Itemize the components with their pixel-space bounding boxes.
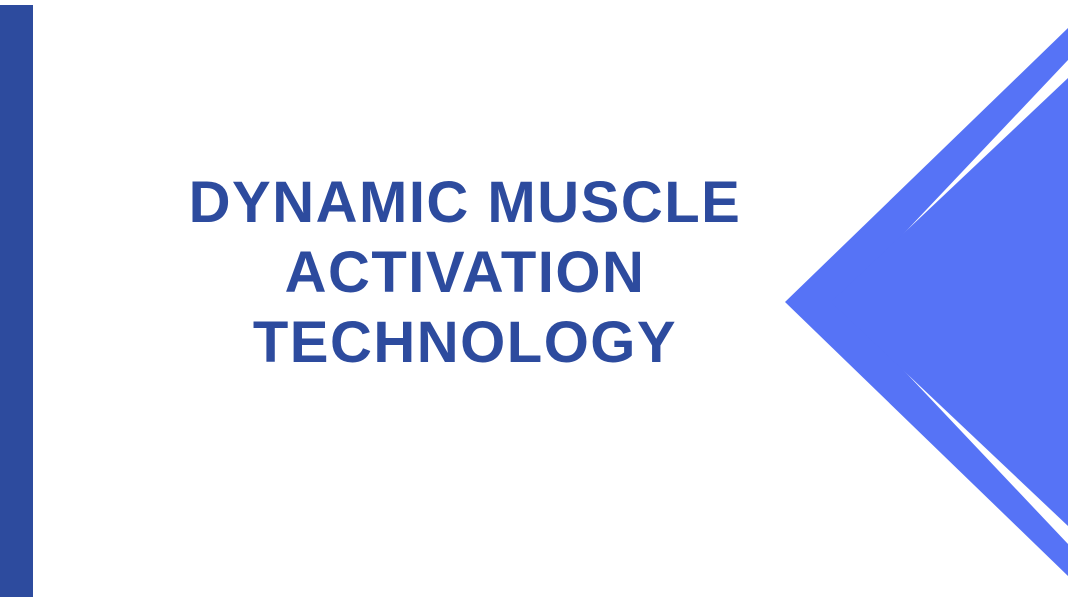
chevron-left-icon-svg <box>778 0 1068 605</box>
page-title: DYNAMIC MUSCLE ACTIVATION TECHNOLOGY <box>60 168 870 378</box>
slide-canvas: DYNAMIC MUSCLE ACTIVATION TECHNOLOGY <box>0 0 1068 605</box>
chevron-left-icon <box>778 0 1068 605</box>
left-accent-bar <box>0 5 33 597</box>
title-line-1: DYNAMIC MUSCLE <box>60 168 870 238</box>
title-line-2: ACTIVATION <box>60 238 870 308</box>
title-line-3: TECHNOLOGY <box>60 308 870 378</box>
